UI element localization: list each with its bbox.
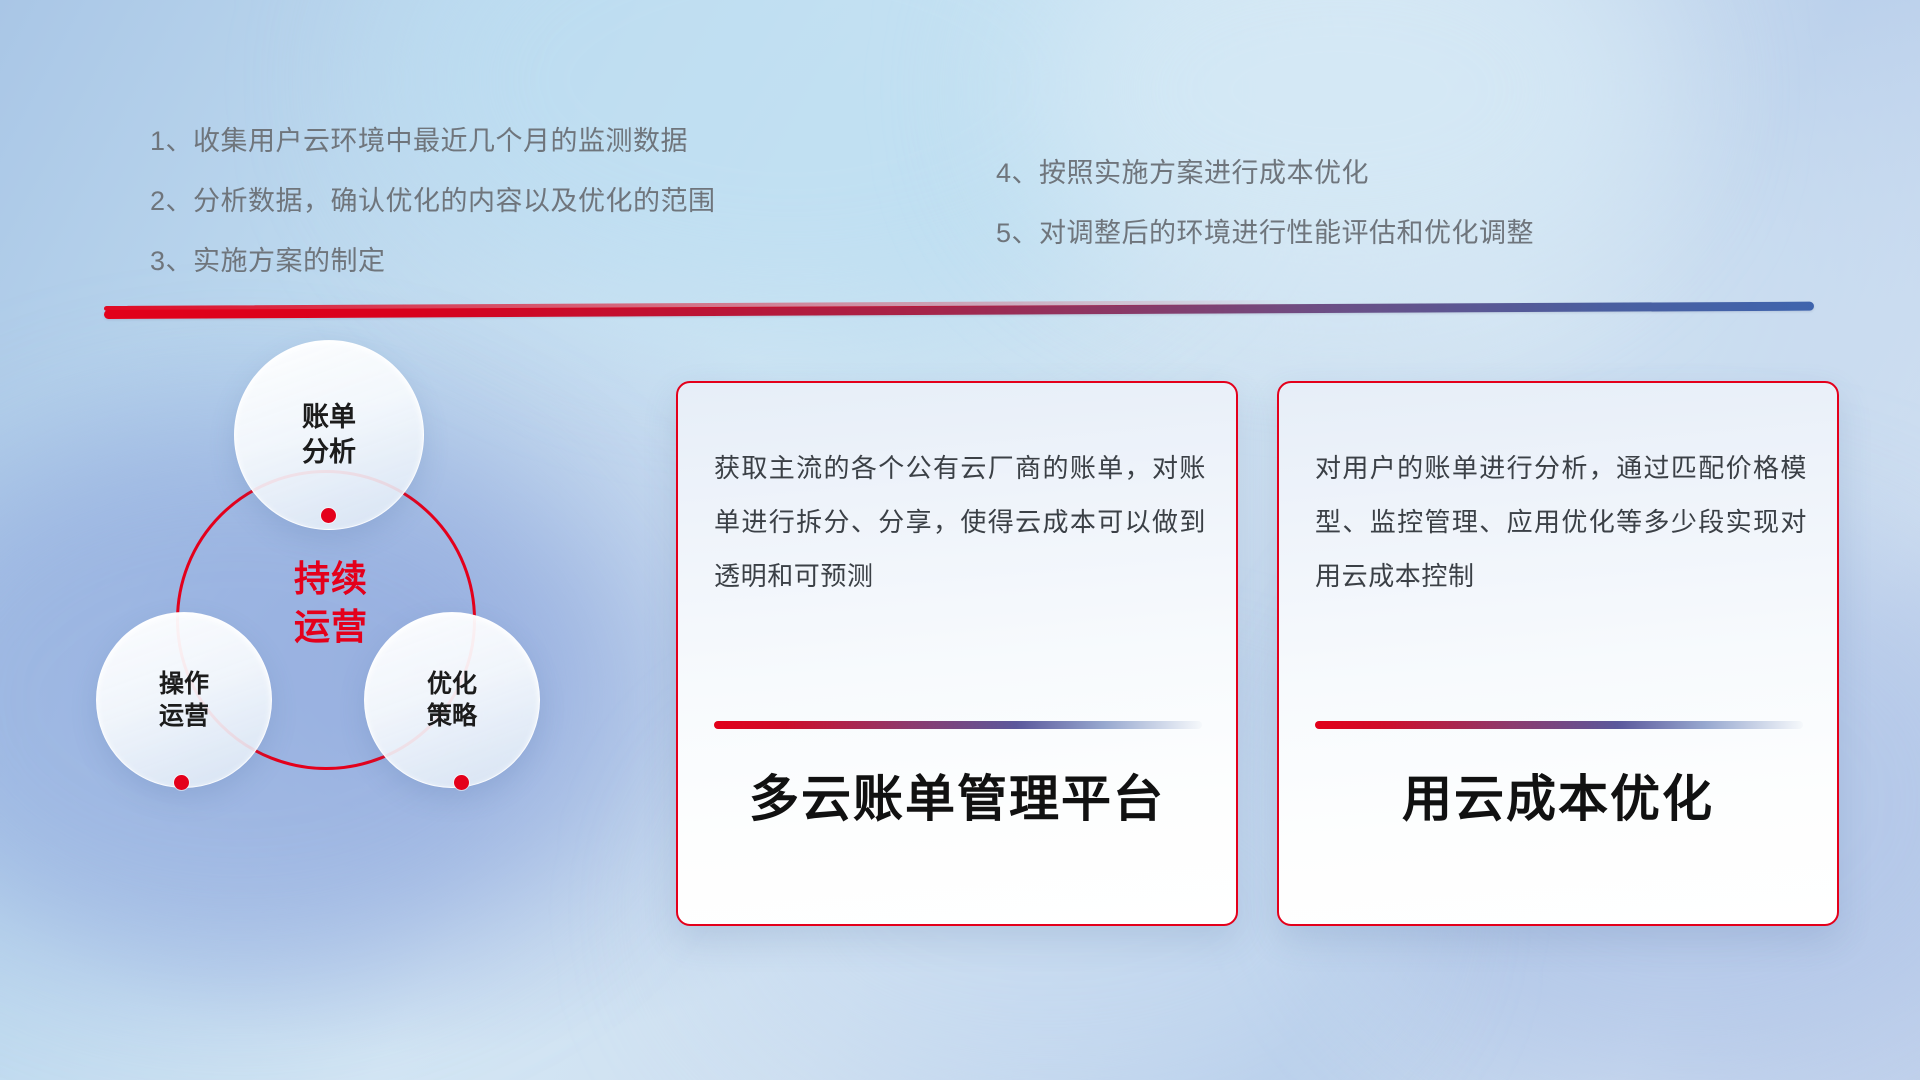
bubble-optimization-strategy-line1: 优化 — [427, 668, 477, 700]
step-item-3: 3、实施方案的制定 — [150, 248, 716, 275]
venn-center-label: 持续 运营 — [246, 555, 416, 650]
card-cloud-cost-optimization[interactable]: 对用户的账单进行分析，通过匹配价格模型、监控管理、应用优化等多少段实现对用云成本… — [1277, 381, 1839, 926]
bubble-bill-analysis-line1: 账单 — [302, 400, 356, 435]
card-2-body: 对用户的账单进行分析，通过匹配价格模型、监控管理、应用优化等多少段实现对用云成本… — [1315, 441, 1807, 603]
section-divider — [104, 302, 1814, 319]
steps-list-right: 4、按照实施方案进行成本优化 5、对调整后的环境进行性能评估和优化调整 — [996, 160, 1534, 280]
card-2-accent-rule — [1315, 721, 1803, 729]
venn-diagram: 账单 分析 操作 运营 优化 策略 持续 运营 — [96, 340, 616, 920]
step-item-5: 5、对调整后的环境进行性能评估和优化调整 — [996, 220, 1534, 247]
step-item-4: 4、按照实施方案进行成本优化 — [996, 160, 1534, 187]
card-1-body: 获取主流的各个公有云厂商的账单，对账单进行拆分、分享，使得云成本可以做到透明和可… — [714, 441, 1206, 603]
ring-node-left-dot — [174, 775, 189, 790]
bubble-operations-line1: 操作 — [159, 668, 209, 700]
card-multi-cloud-bill-platform[interactable]: 获取主流的各个公有云厂商的账单，对账单进行拆分、分享，使得云成本可以做到透明和可… — [676, 381, 1238, 926]
bubble-optimization-strategy-line2: 策略 — [427, 700, 477, 732]
bubble-bill-analysis[interactable]: 账单 分析 — [234, 340, 424, 530]
ring-node-right-dot — [454, 775, 469, 790]
bubble-bill-analysis-line2: 分析 — [302, 435, 356, 470]
card-1-title: 多云账单管理平台 — [678, 759, 1236, 831]
step-item-2: 2、分析数据，确认优化的内容以及优化的范围 — [150, 188, 716, 215]
slide-canvas: 1、收集用户云环境中最近几个月的监测数据 2、分析数据，确认优化的内容以及优化的… — [0, 0, 1920, 1080]
steps-list-left: 1、收集用户云环境中最近几个月的监测数据 2、分析数据，确认优化的内容以及优化的… — [150, 128, 716, 308]
card-1-accent-rule — [714, 721, 1202, 729]
step-item-1: 1、收集用户云环境中最近几个月的监测数据 — [150, 128, 716, 155]
ring-node-top-dot — [321, 508, 336, 523]
card-2-title: 用云成本优化 — [1279, 759, 1837, 831]
bubble-operations-line2: 运营 — [159, 700, 209, 732]
venn-center-label-line2: 运营 — [246, 603, 416, 651]
venn-center-label-line1: 持续 — [246, 555, 416, 603]
